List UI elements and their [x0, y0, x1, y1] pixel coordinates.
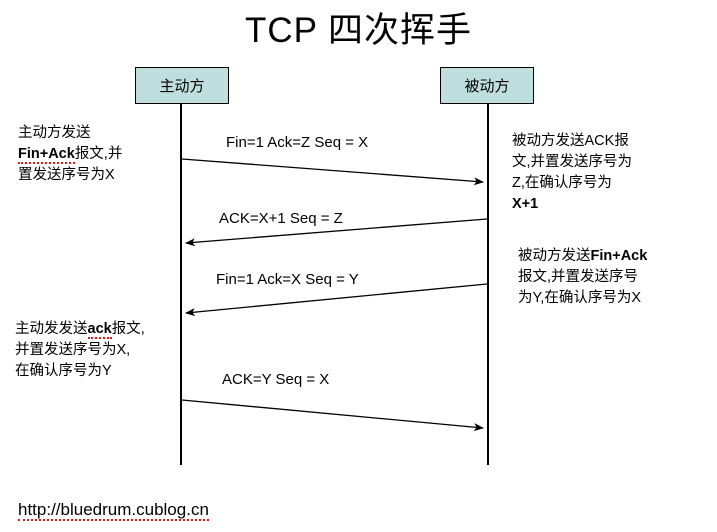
note-right-1-line-2: 文,并置发送序号为 — [512, 152, 708, 173]
actor-box-initiator[interactable]: 主动方 — [135, 67, 229, 104]
note-right-1-line-4: X+1 — [512, 194, 708, 215]
note-left-1-line-2-rest: 报文,并 — [75, 146, 123, 162]
note-right-2-line-3: 为Y,在确认序号为X — [518, 288, 714, 309]
note-left-1-line-1: 主动方发送 — [18, 123, 178, 144]
message-label-1: Fin=1 Ack=Z Seq = X — [226, 134, 368, 151]
note-right-2-line-1: 被动方发送Fin+Ack — [518, 246, 714, 267]
note-right-responder-fin: 被动方发送Fin+Ack 报文,并置发送序号 为Y,在确认序号为X — [518, 246, 714, 309]
message-label-1-text: Fin=1 Ack=Z Seq = X — [226, 134, 368, 151]
actor-label-initiator: 主动方 — [159, 75, 204, 96]
message-label-4: ACK=Y Seq = X — [222, 371, 329, 388]
note-right-2-emphasis: Fin+Ack — [591, 248, 648, 264]
note-right-responder-ack: 被动方发送ACK报 文,并置发送序号为 Z,在确认序号为 X+1 — [512, 131, 708, 215]
diagram-canvas: TCP 四次挥手 主动方 被动方 Fin=1 Ack=Z Seq = X ACK… — [0, 0, 717, 532]
message-label-2-text: ACK=X+1 Seq = Z — [219, 210, 343, 227]
note-left-2-line-1-b: 报文, — [112, 321, 145, 337]
message-label-2: ACK=X+1 Seq = Z — [219, 210, 343, 227]
note-right-2-line-2: 报文,并置发送序号 — [518, 267, 714, 288]
actor-box-responder[interactable]: 被动方 — [440, 67, 534, 104]
note-left-initiator-ack: 主动发发送ack报文, 并置发送序号为X, 在确认序号为Y — [15, 319, 185, 382]
note-right-1-line-1: 被动方发送ACK报 — [512, 131, 708, 152]
message-arrow-4 — [182, 400, 483, 428]
note-left-2-line-1-a: 主动发发送 — [15, 321, 88, 337]
footer-url[interactable]: http://bluedrum.cublog.cn — [18, 500, 209, 520]
message-arrow-1 — [182, 159, 483, 182]
actor-label-responder: 被动方 — [464, 75, 509, 96]
message-label-4-text: ACK=Y Seq = X — [222, 371, 329, 388]
footer-url-text: http://bluedrum.cublog.cn — [18, 500, 209, 521]
page-title: TCP 四次挥手 — [0, 2, 717, 53]
note-right-1-line-3: Z,在确认序号为 — [512, 173, 708, 194]
message-label-3: Fin=1 Ack=X Seq = Y — [216, 271, 359, 288]
note-left-2-line-2: 并置发送序号为X, — [15, 340, 185, 361]
note-left-2-line-1: 主动发发送ack报文, — [15, 319, 185, 340]
note-left-initiator-fin: 主动方发送 Fin+Ack报文,并 置发送序号为X — [18, 123, 178, 186]
note-left-1-line-3: 置发送序号为X — [18, 165, 178, 186]
message-arrow-3 — [186, 284, 487, 313]
note-right-1-emphasis: X+1 — [512, 196, 538, 212]
note-right-2-line-1-a: 被动方发送 — [518, 248, 591, 264]
note-left-2-emphasis: ack — [88, 321, 112, 339]
note-left-1-line-2: Fin+Ack报文,并 — [18, 144, 178, 165]
note-left-2-line-3: 在确认序号为Y — [15, 361, 185, 382]
note-left-1-emphasis: Fin+Ack — [18, 146, 75, 164]
message-label-3-text: Fin=1 Ack=X Seq = Y — [216, 271, 359, 288]
